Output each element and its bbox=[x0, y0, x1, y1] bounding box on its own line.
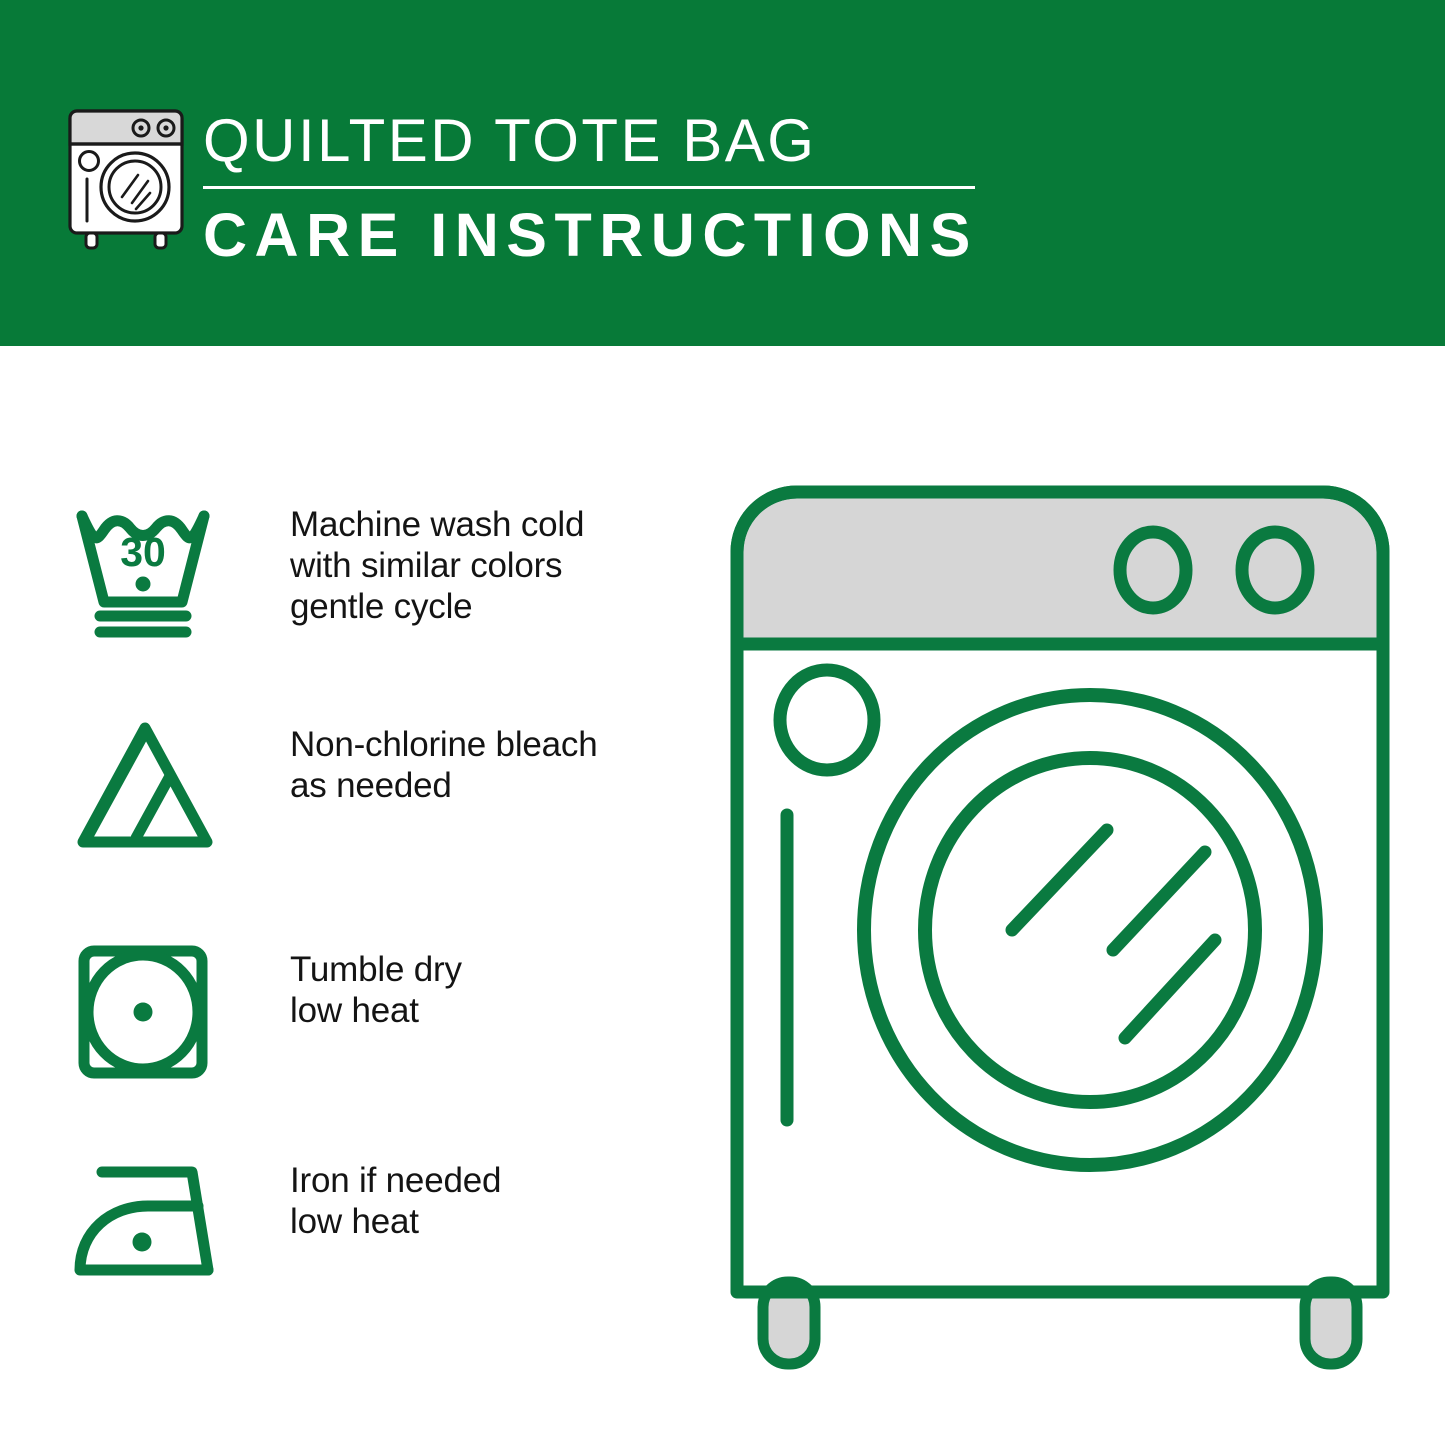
care-instruction-text: Tumble dry low heat bbox=[290, 937, 462, 1031]
care-instructions-page: QUILTED TOTE BAG CARE INSTRUCTIONS 30 bbox=[0, 0, 1445, 1445]
care-instruction-text: Iron if needed low heat bbox=[290, 1148, 501, 1242]
care-text-line: Non-chlorine bleach bbox=[290, 724, 598, 765]
care-instruction-row: Iron if needed low heat bbox=[70, 1148, 690, 1298]
care-instruction-row: Non-chlorine bleach as needed bbox=[70, 712, 690, 862]
header-band: QUILTED TOTE BAG CARE INSTRUCTIONS bbox=[0, 0, 1445, 346]
wash-basin-30-gentle-icon: 30 bbox=[70, 492, 220, 642]
care-instruction-text: Non-chlorine bleach as needed bbox=[290, 712, 598, 806]
tumble-dry-low-heat-icon bbox=[70, 937, 220, 1087]
door-inner-ring bbox=[925, 758, 1255, 1102]
knob-left bbox=[1120, 532, 1186, 608]
title-divider bbox=[203, 186, 975, 189]
care-text-line: low heat bbox=[290, 1201, 501, 1242]
care-text-line: as needed bbox=[290, 765, 598, 806]
care-text-line: Tumble dry bbox=[290, 949, 462, 990]
care-text-line: Machine wash cold bbox=[290, 504, 584, 545]
iron-low-heat-icon bbox=[70, 1148, 220, 1298]
page-subtitle: CARE INSTRUCTIONS bbox=[203, 199, 993, 271]
care-text-line: with similar colors bbox=[290, 545, 584, 586]
page-title: QUILTED TOTE BAG bbox=[203, 104, 993, 178]
washing-machine-icon bbox=[62, 103, 190, 251]
care-text-line: gentle cycle bbox=[290, 586, 584, 627]
header-text-block: QUILTED TOTE BAG CARE INSTRUCTIONS bbox=[203, 104, 993, 271]
indicator-circle bbox=[780, 670, 874, 770]
care-instruction-row: 30 Machine wash cold with similar colors… bbox=[70, 492, 690, 642]
door-shine-lines bbox=[1012, 830, 1215, 1038]
triangle-non-chlorine-bleach-icon bbox=[70, 712, 220, 862]
wash-temperature-value: 30 bbox=[120, 529, 166, 575]
front-load-washing-machine-illustration bbox=[715, 470, 1405, 1370]
care-instruction-row: Tumble dry low heat bbox=[70, 937, 690, 1087]
knob-right bbox=[1242, 532, 1308, 608]
care-instruction-text: Machine wash cold with similar colors ge… bbox=[290, 492, 584, 627]
care-text-line: low heat bbox=[290, 990, 462, 1031]
care-text-line: Iron if needed bbox=[290, 1160, 501, 1201]
